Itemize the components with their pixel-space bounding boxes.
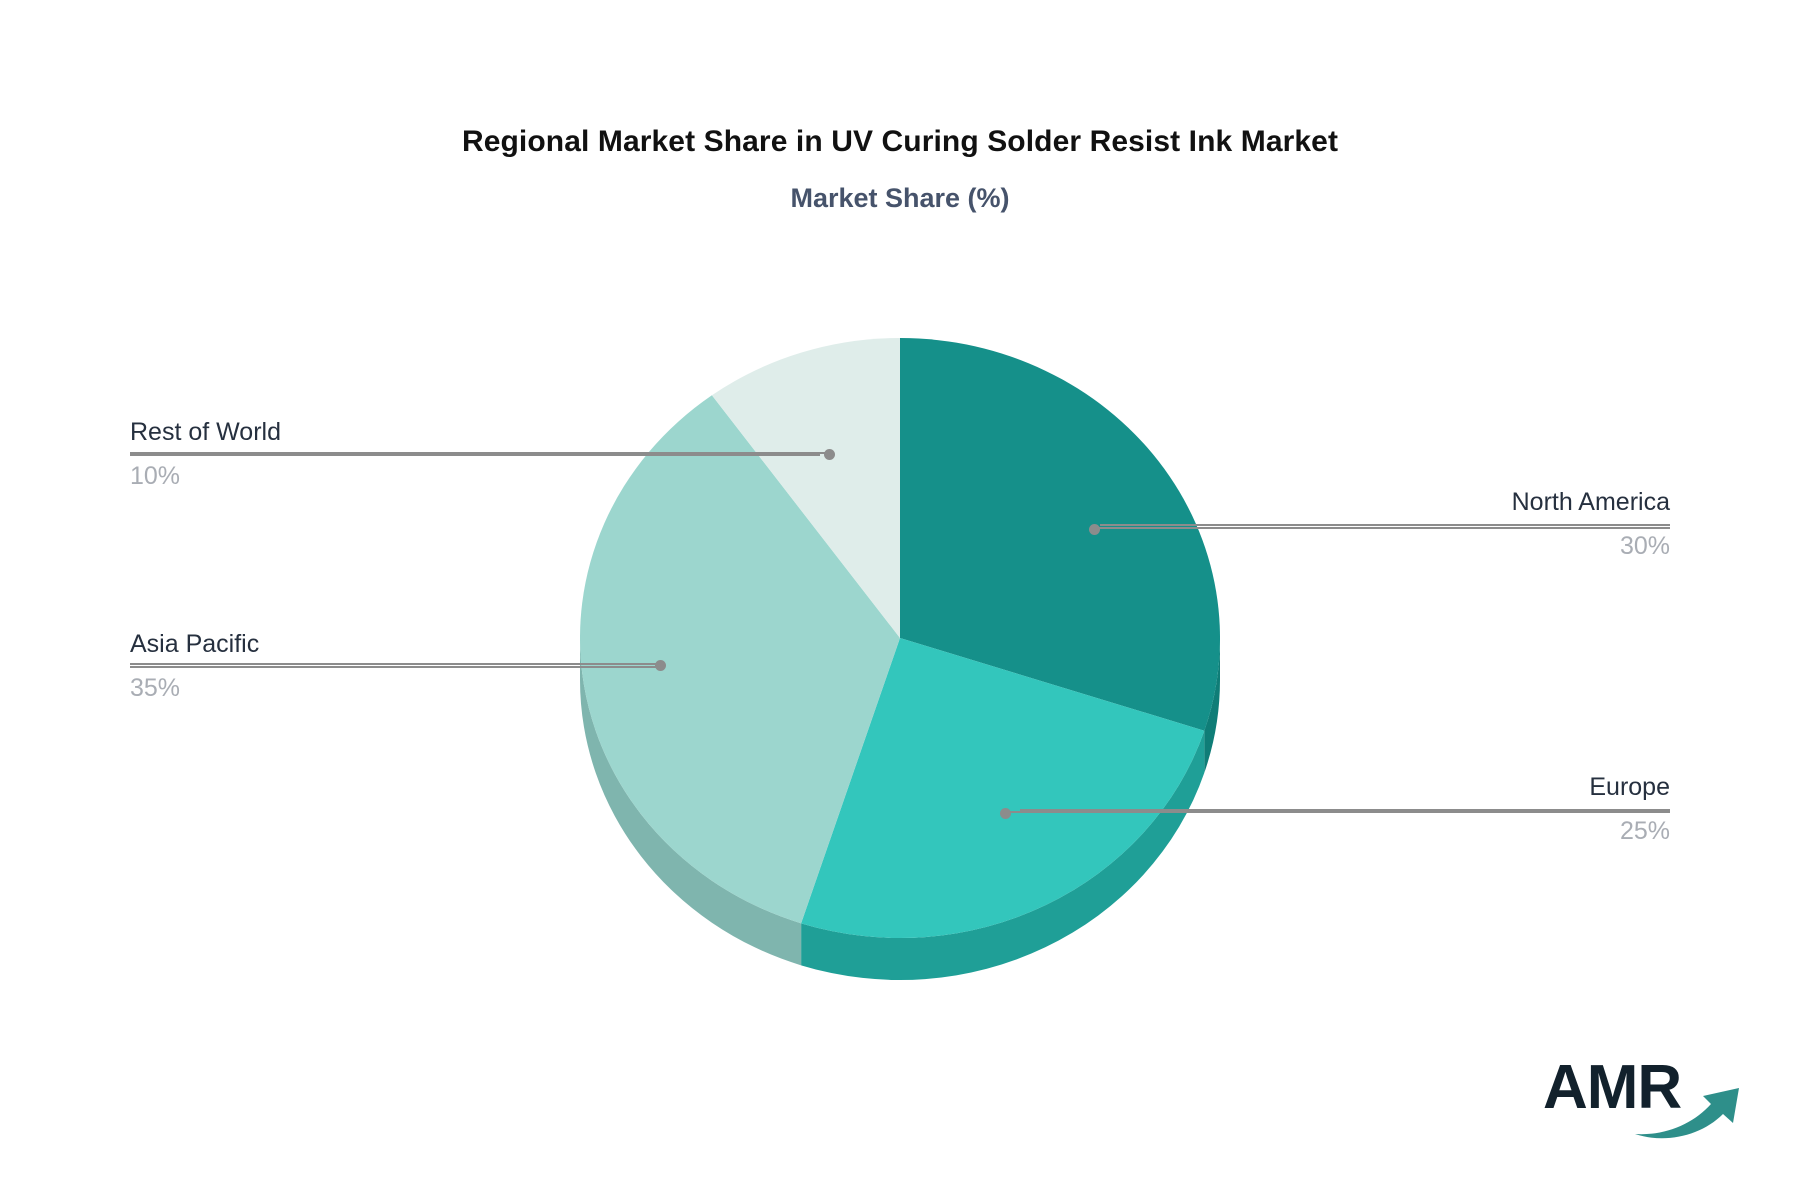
callout-rule-north-america xyxy=(1100,524,1670,526)
chart-subtitle: Market Share (%) xyxy=(0,183,1800,214)
amr-logo-svg: AMR xyxy=(1543,1046,1758,1141)
pie-chart xyxy=(0,0,1800,1196)
callout-label-asia-pacific: Asia Pacific xyxy=(130,628,660,660)
pie-chart-svg xyxy=(0,0,1800,1196)
amr-logo: AMR xyxy=(1543,1046,1758,1141)
callout-europe: Europe 25% xyxy=(1020,771,1670,847)
leader-dot-rest-of-world xyxy=(824,449,835,460)
callout-asia-pacific: Asia Pacific 35% xyxy=(130,628,660,704)
callout-rule-rest-of-world xyxy=(130,454,820,456)
callout-value-north-america: 30% xyxy=(1100,530,1670,562)
leader-dot-north-america xyxy=(1089,524,1100,535)
pie-side-europe xyxy=(801,731,1204,980)
amr-wordmark: AMR xyxy=(1543,1053,1681,1122)
leader-dot-europe xyxy=(1000,808,1011,819)
callout-value-rest-of-world: 10% xyxy=(130,460,820,492)
callout-label-europe: Europe xyxy=(1020,771,1670,803)
callout-value-asia-pacific: 35% xyxy=(130,672,660,704)
callout-label-north-america: North America xyxy=(1100,486,1670,518)
callout-rest-of-world: Rest of World 10% xyxy=(130,416,820,492)
callout-rule-europe xyxy=(1020,809,1670,811)
callout-rule-asia-pacific xyxy=(130,666,660,668)
callout-north-america: North America 30% xyxy=(1100,486,1670,562)
chart-title: Regional Market Share in UV Curing Solde… xyxy=(0,125,1800,159)
callout-value-europe: 25% xyxy=(1020,815,1670,847)
pie-side-north-america xyxy=(1204,638,1220,773)
callout-label-rest-of-world: Rest of World xyxy=(130,416,820,448)
